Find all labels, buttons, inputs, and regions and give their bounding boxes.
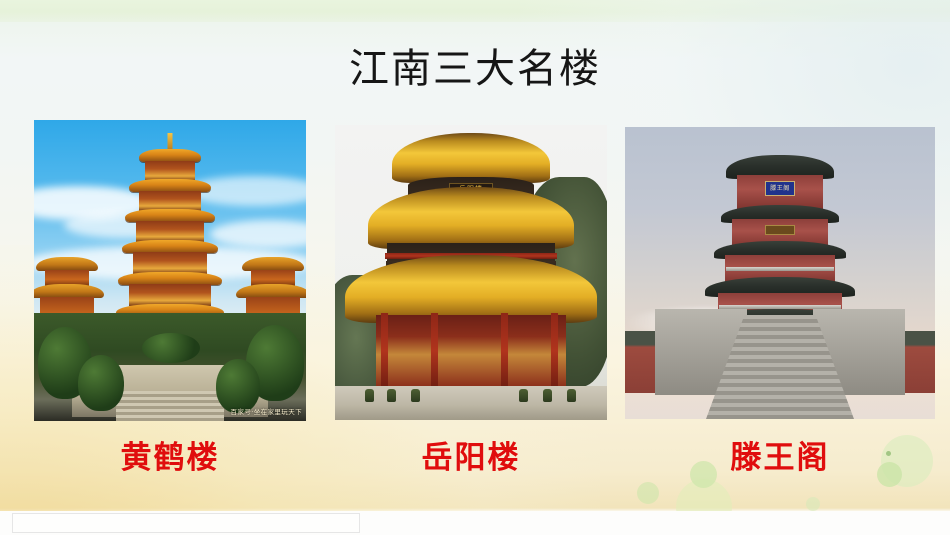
caption-yueyanglou: 岳阳楼: [335, 439, 607, 477]
caption-tengwangge: 滕王阁: [625, 439, 935, 477]
pavilion-plaque-blue: 滕王阁: [765, 181, 795, 196]
slide-canvas: 江南三大名楼: [0, 0, 950, 535]
tower-pillar: [551, 313, 558, 389]
tower-pillar: [431, 313, 438, 389]
tower-pillar: [381, 313, 388, 389]
tower-roof-top: [392, 133, 550, 183]
tower-ground-floor: [376, 315, 566, 387]
planter-pot: [519, 389, 528, 402]
pagoda-tier: [145, 161, 195, 181]
planter-pot: [411, 389, 420, 402]
tree: [216, 359, 260, 413]
photo-watermark: 百家号·坐在家里玩天下: [231, 406, 302, 416]
pagoda-tier: [129, 284, 211, 306]
pavilion-balcony-rail: [726, 267, 834, 271]
planter-pot: [543, 389, 552, 402]
tree: [78, 355, 124, 411]
caption-huanghelou: 黄鹤楼: [34, 439, 306, 477]
bottom-placeholder-box: [12, 513, 360, 533]
yellow-crane-tower-photo: 百家号·坐在家里玩天下: [34, 120, 306, 421]
planter-pot: [387, 389, 396, 402]
yueyang-tower-photo: 岳阳楼: [335, 125, 607, 420]
tower-pillar: [501, 313, 508, 389]
tree: [142, 333, 200, 363]
pagoda-tier: [133, 252, 207, 274]
top-accent-band: [0, 0, 950, 22]
tengwang-pavilion-photo: 滕王阁: [625, 127, 935, 419]
pavilion-plaque-gold: [765, 225, 795, 235]
staircase: [116, 391, 225, 421]
page-title: 江南三大名楼: [0, 46, 950, 92]
pagoda-structure: [116, 149, 224, 335]
pagoda-tier: [139, 191, 201, 211]
planter-pot: [567, 389, 576, 402]
pavilion-roof: [236, 284, 306, 298]
decorative-bubble: [637, 482, 659, 504]
planter-pot: [365, 389, 374, 402]
decorative-bubble: [806, 497, 820, 511]
pavilion-roof: [242, 257, 304, 271]
pavilion-roof: [34, 284, 104, 298]
pavilion-roof: [36, 257, 98, 271]
pagoda-tier: [136, 221, 204, 242]
